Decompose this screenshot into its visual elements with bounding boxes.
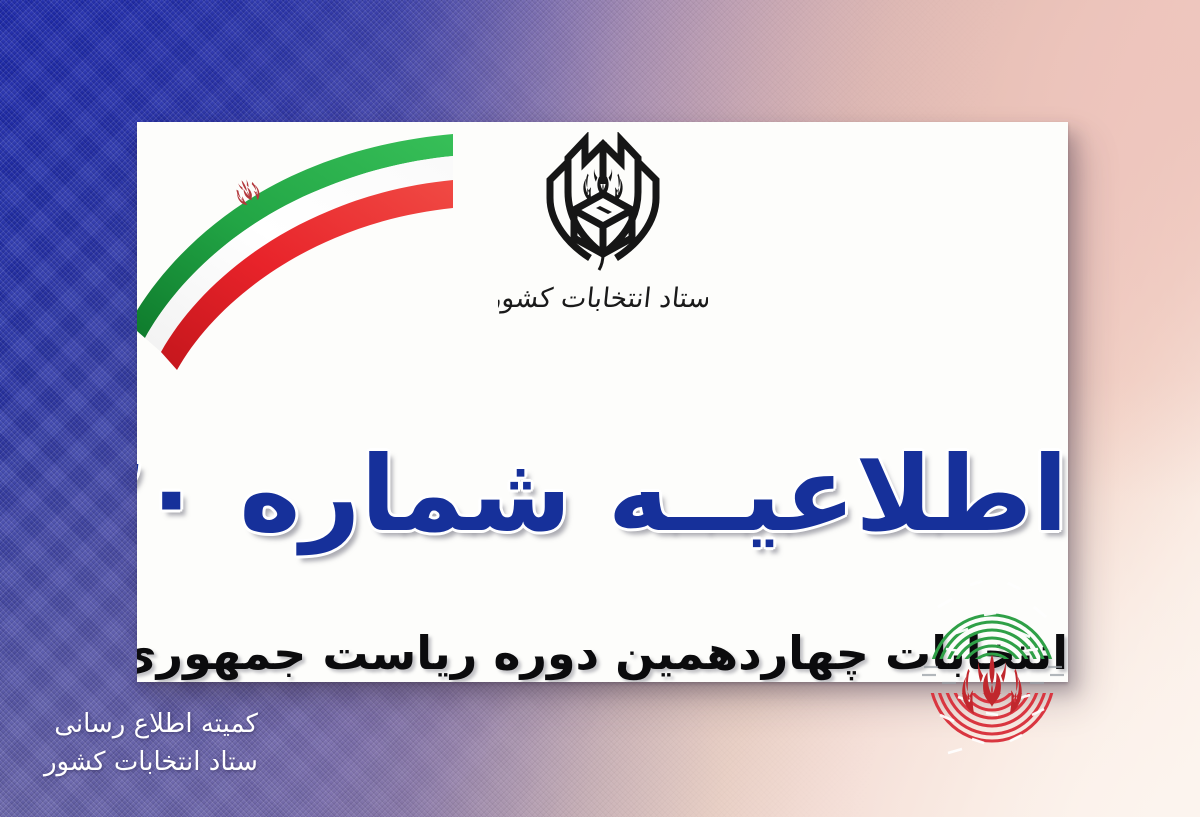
credit-line-1: کمیته اطلاع رسانی: [44, 706, 258, 744]
election-headquarters-emblem: [528, 132, 678, 272]
credit-block: کمیته اطلاع رسانی ستاد انتخابات کشور: [44, 706, 258, 781]
logo-block: ستاد انتخابات کشور: [137, 132, 1068, 326]
logo-caption-calligraphy: ستاد انتخابات کشور: [498, 267, 708, 325]
poster-canvas: ستاد انتخابات کشور اطلاعیــه شماره ۲۰ ان…: [0, 0, 1200, 817]
page-title: اطلاعیــه شماره ۲۰: [137, 440, 1068, 549]
logo-caption-text: ستاد انتخابات کشور: [498, 283, 708, 314]
logo-caption: ستاد انتخابات کشور: [498, 266, 708, 326]
announcement-card: ستاد انتخابات کشور اطلاعیــه شماره ۲۰ ان…: [137, 122, 1068, 682]
credit-line-2: ستاد انتخابات کشور: [44, 744, 258, 782]
page-subtitle: انتخابات چهاردهمین دوره ریاست جمهوری: [137, 627, 1068, 680]
